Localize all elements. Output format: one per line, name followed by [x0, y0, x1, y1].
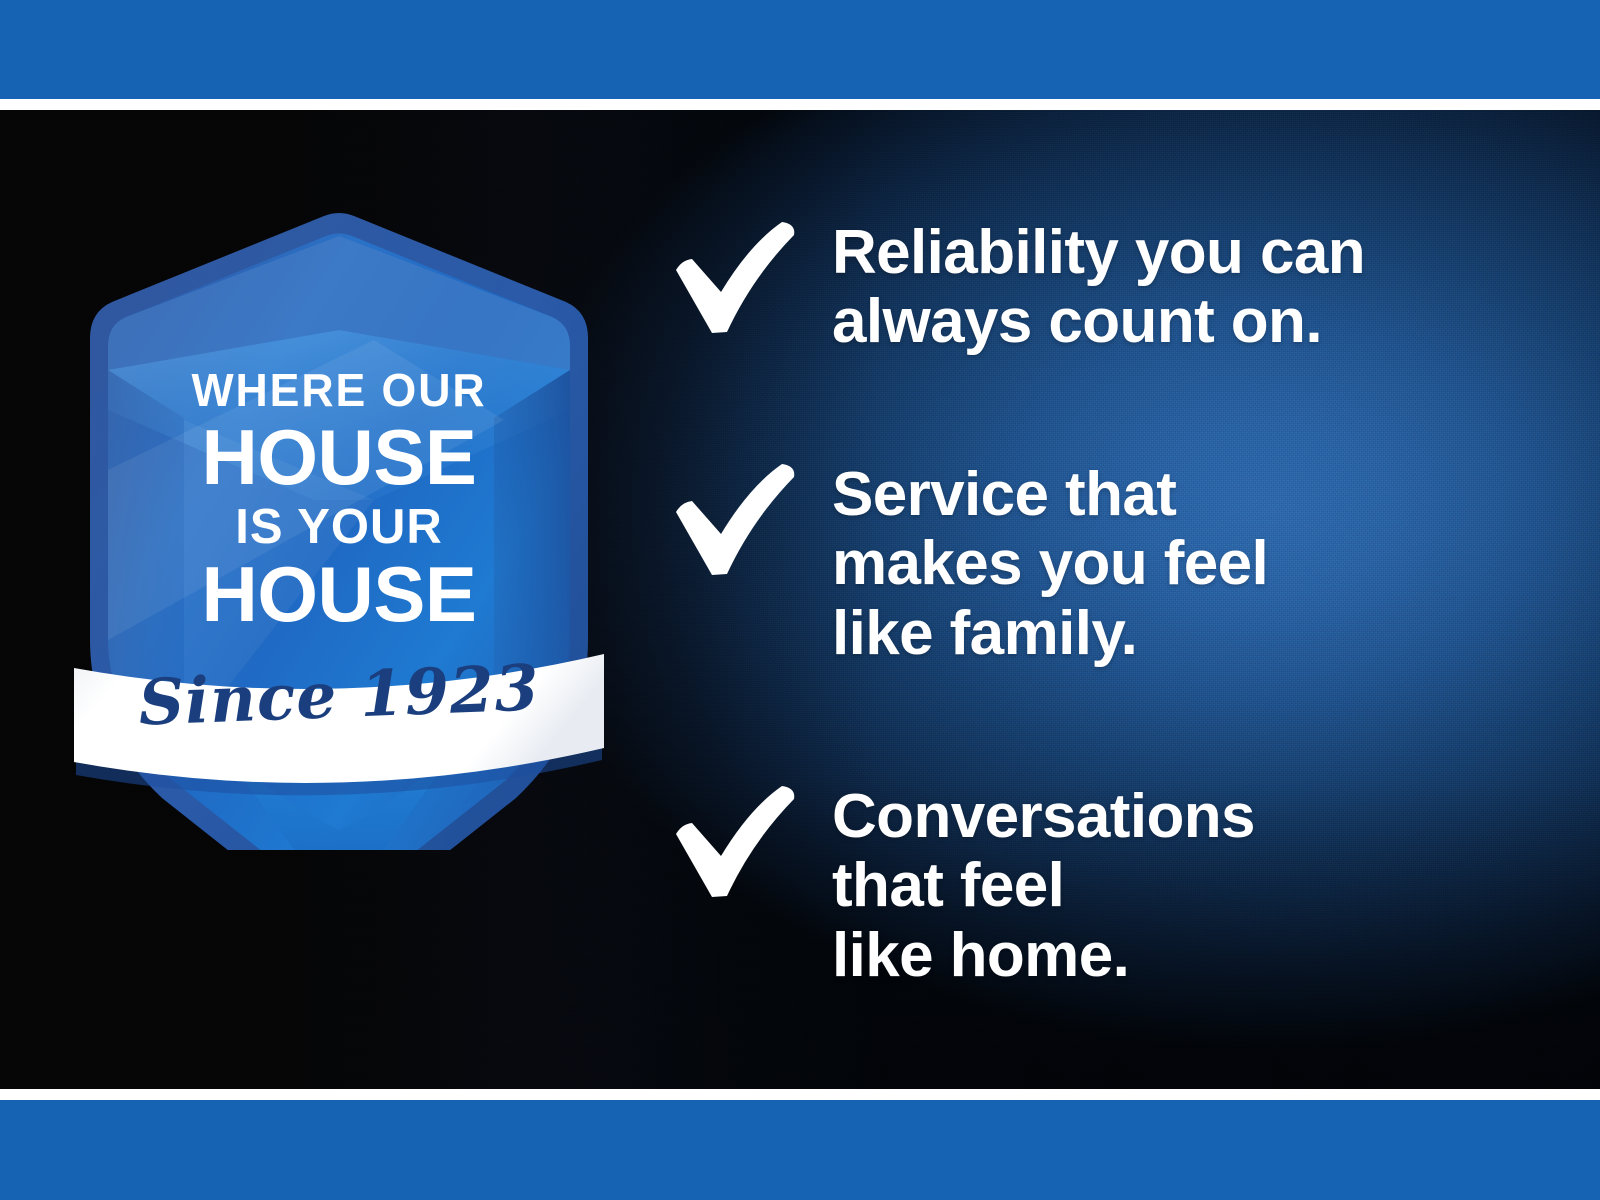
badge-line-4: House	[74, 555, 604, 633]
top-brand-bar	[0, 0, 1600, 99]
benefit-item: Conversations that feel like home.	[672, 782, 1255, 990]
shield-badge: Where our House is your House Since 1923	[74, 170, 604, 850]
promo-graphic: Where our House is your House Since 1923…	[0, 0, 1600, 1200]
badge-line-2: House	[74, 418, 604, 496]
benefit-text: Conversations that feel like home.	[832, 782, 1255, 990]
benefits-list: Reliability you can always count on. Ser…	[672, 110, 1532, 1089]
badge-line-1: Where our	[82, 367, 596, 413]
benefit-text: Reliability you can always count on.	[832, 218, 1365, 357]
checkmark-icon	[672, 220, 800, 338]
checkmark-icon	[672, 462, 800, 580]
bottom-brand-bar	[0, 1100, 1600, 1200]
benefit-text: Service that makes you feel like family.	[832, 460, 1268, 668]
checkmark-icon	[672, 784, 800, 902]
benefit-item: Reliability you can always count on.	[672, 218, 1365, 357]
benefit-item: Service that makes you feel like family.	[672, 460, 1268, 668]
badge-line-3: is your	[74, 503, 604, 552]
badge-since-text: Since 1923	[73, 654, 605, 737]
